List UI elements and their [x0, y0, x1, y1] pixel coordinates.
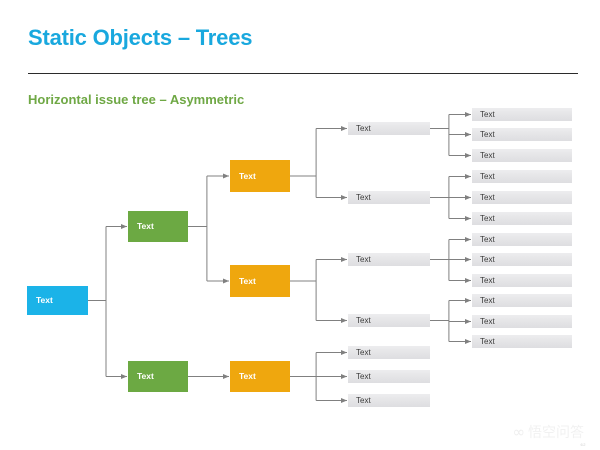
tree-node-label: Text	[356, 194, 371, 202]
tree-node-l3[interactable]: Text	[472, 149, 572, 162]
tree-node-label: Text	[480, 318, 495, 326]
tree-node-l10[interactable]: Text	[472, 294, 572, 307]
tree-node-label: Text	[356, 125, 371, 133]
tree-node-root[interactable]: Text	[27, 286, 88, 315]
tree-node-o2[interactable]: Text	[230, 265, 290, 297]
tree-node-l5[interactable]: Text	[472, 191, 572, 204]
tree-node-m2[interactable]: Text	[348, 191, 430, 204]
tree-node-label: Text	[480, 297, 495, 305]
tree-node-label: Text	[356, 373, 371, 381]
tree-node-g2[interactable]: Text	[128, 361, 188, 392]
tree-node-label: Text	[356, 256, 371, 264]
tree-node-m3[interactable]: Text	[348, 253, 430, 266]
tree-node-m4[interactable]: Text	[348, 314, 430, 327]
tree-node-l12[interactable]: Text	[472, 335, 572, 348]
tree-node-label: Text	[480, 111, 495, 119]
tree-node-label: Text	[239, 172, 256, 181]
tree-node-o1[interactable]: Text	[230, 160, 290, 192]
tree-node-l1[interactable]: Text	[472, 108, 572, 121]
tree-node-b3[interactable]: Text	[348, 394, 430, 407]
tree-node-o3[interactable]: Text	[230, 361, 290, 392]
tree-node-l11[interactable]: Text	[472, 315, 572, 328]
tree-node-label: Text	[137, 372, 154, 381]
tree-node-l8[interactable]: Text	[472, 253, 572, 266]
tree-node-l2[interactable]: Text	[472, 128, 572, 141]
tree-node-label: Text	[356, 349, 371, 357]
tree-node-label: Text	[356, 397, 371, 405]
tree-node-g1[interactable]: Text	[128, 211, 188, 242]
tree-node-m1[interactable]: Text	[348, 122, 430, 135]
tree-node-label: Text	[480, 152, 495, 160]
tree-node-label: Text	[480, 256, 495, 264]
tree-node-label: Text	[480, 131, 495, 139]
tree-node-l4[interactable]: Text	[472, 170, 572, 183]
tree-node-label: Text	[480, 277, 495, 285]
tree-node-label: Text	[480, 338, 495, 346]
tree-node-label: Text	[356, 317, 371, 325]
tree-node-label: Text	[239, 372, 256, 381]
tree-node-label: Text	[480, 194, 495, 202]
tree-node-label: Text	[36, 296, 53, 305]
tree-node-b2[interactable]: Text	[348, 370, 430, 383]
tree-node-label: Text	[480, 236, 495, 244]
tree-node-label: Text	[480, 173, 495, 181]
tree-node-l7[interactable]: Text	[472, 233, 572, 246]
slide-canvas: Static Objects – Trees Horizontal issue …	[0, 0, 600, 450]
tree-node-b1[interactable]: Text	[348, 346, 430, 359]
tree-node-label: Text	[480, 215, 495, 223]
tree-connectors	[0, 0, 600, 450]
tree-node-l9[interactable]: Text	[472, 274, 572, 287]
tree-node-l6[interactable]: Text	[472, 212, 572, 225]
horizontal-issue-tree: TextTextTextTextTextTextTextTextTextText…	[0, 0, 600, 450]
tree-node-label: Text	[137, 222, 154, 231]
tree-node-label: Text	[239, 277, 256, 286]
